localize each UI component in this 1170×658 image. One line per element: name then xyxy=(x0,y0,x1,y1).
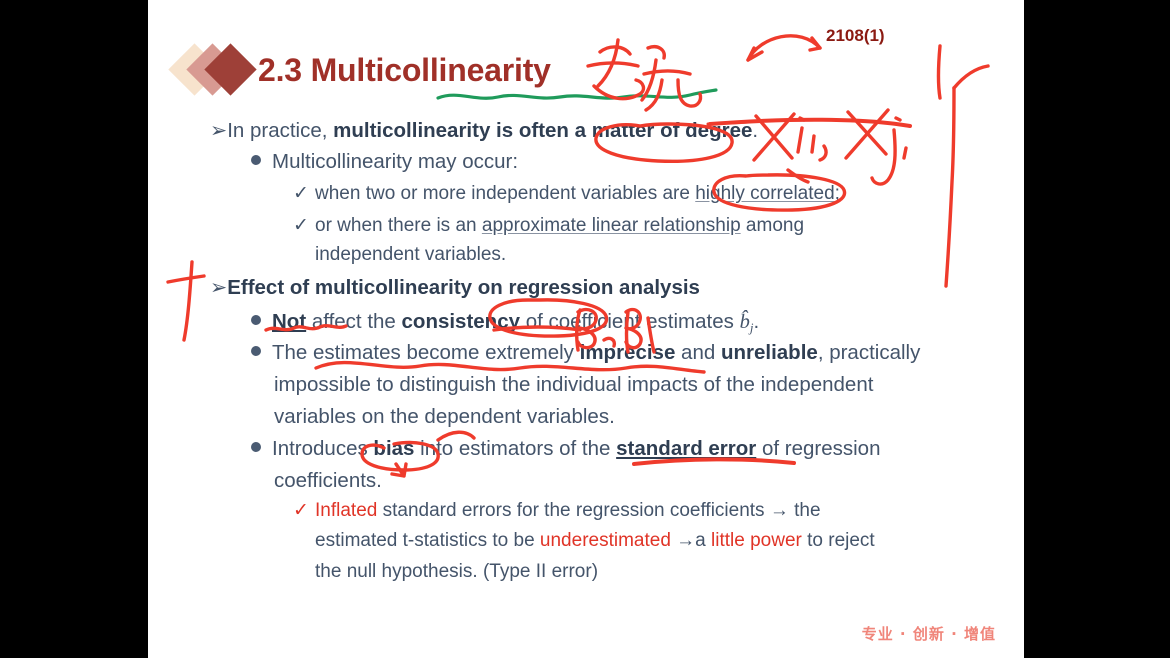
dot-bullet-icon-3 xyxy=(251,346,261,356)
not-post: of coefficient estimates xyxy=(520,310,740,333)
standard-error-keyword: standard error xyxy=(616,437,756,460)
slide-title-row: 2.3 Multicollinearity xyxy=(176,42,551,98)
not-keyword: Not xyxy=(272,310,306,333)
inflated-keyword: Inflated xyxy=(315,500,377,521)
inflated-line2-post: to reject xyxy=(802,530,875,551)
not-end: . xyxy=(753,310,759,333)
consistency-keyword: consistency xyxy=(402,310,521,333)
inflated-mid: standard errors for the regression coeff… xyxy=(377,500,820,521)
introduces-post: of regression xyxy=(756,437,880,460)
in-practice-pre: In practice, xyxy=(227,119,333,142)
dot-bullet-icon-2 xyxy=(251,315,261,325)
imprecise-keyword: imprecise xyxy=(580,341,676,364)
bias-keyword: bias xyxy=(373,437,414,460)
dot-bullet-icon-4 xyxy=(251,442,261,452)
bullet-introduces-bias: Introduces bias into estimators of the s… xyxy=(251,437,880,461)
diamond-decoration-icon xyxy=(176,42,254,98)
introduces-line2: coefficients. xyxy=(274,469,382,493)
screenshot-stage: 2.3 Multicollinearity ➢In practice, mult… xyxy=(0,0,1170,658)
estimates-pre: The estimates become extremely xyxy=(272,341,580,364)
introduces-pre: Introduces xyxy=(272,437,373,460)
check-bullet-icon-3: ✓ xyxy=(293,499,309,522)
slide-footer-slogan: 专业 · 创新 · 增值 xyxy=(862,623,996,644)
page-title: 2.3 Multicollinearity xyxy=(258,52,551,89)
check-bullet-icon-2: ✓ xyxy=(293,214,309,237)
arrow-bullet-icon-2: ➢ xyxy=(210,276,227,299)
estimates-post: , practically xyxy=(818,341,921,364)
highly-correlated-underlined: highly correlated xyxy=(695,183,834,204)
in-practice-post: . xyxy=(752,119,758,142)
approx-pre: or when there is an xyxy=(315,215,482,236)
inflated-line3: the null hypothesis. (Type II error) xyxy=(315,561,598,583)
not-mid: affect the xyxy=(306,310,401,333)
arrow-bullet-icon: ➢ xyxy=(210,119,227,142)
bullet-approx-linear: ✓or when there is an approximate linear … xyxy=(293,214,804,237)
check-bullet-icon: ✓ xyxy=(293,182,309,205)
estimates-line2: impossible to distinguish the individual… xyxy=(274,373,873,397)
may-occur-text: Multicollinearity may occur: xyxy=(272,150,518,173)
introduces-mid: into estimators of the xyxy=(414,437,616,460)
inflated-line2-mid: →a xyxy=(671,530,711,551)
approx-line2: independent variables. xyxy=(315,244,506,266)
estimates-mid: and xyxy=(675,341,721,364)
bullet-may-occur: Multicollinearity may occur: xyxy=(251,150,518,174)
in-practice-bold: multicollinearity is often a matter of d… xyxy=(333,119,752,142)
underestimated-keyword: underestimated xyxy=(540,530,671,551)
bullet-inflated: ✓Inflated standard errors for the regres… xyxy=(293,499,821,522)
effect-heading-text: Effect of multicollinearity on regressio… xyxy=(227,276,700,299)
bullet-estimates-imprecise: The estimates become extremely imprecise… xyxy=(251,341,920,365)
presentation-slide: 2.3 Multicollinearity ➢In practice, mult… xyxy=(148,0,1024,658)
page-reference-annotation: 2108(1) xyxy=(826,26,885,46)
b-hat-math: b̂ xyxy=(740,311,750,333)
bullet-not-affect: Not affect the consistency of coefficien… xyxy=(251,310,759,336)
dot-bullet-icon xyxy=(251,155,261,165)
two-or-more-pre: when two or more independent variables a… xyxy=(315,183,695,204)
approx-post: among xyxy=(741,215,804,236)
inflated-line2-pre: estimated t-statistics to be xyxy=(315,530,540,551)
unreliable-keyword: unreliable xyxy=(721,341,818,364)
bullet-in-practice: ➢In practice, multicollinearity is often… xyxy=(210,118,758,143)
estimates-line3: variables on the dependent variables. xyxy=(274,405,615,429)
two-or-more-post: ; xyxy=(835,183,840,204)
little-power-keyword: little power xyxy=(711,530,802,551)
approximate-linear-underlined: approximate linear relationship xyxy=(482,215,741,236)
bullet-two-or-more: ✓when two or more independent variables … xyxy=(293,182,840,205)
inflated-line2: estimated t-statistics to be underestima… xyxy=(315,530,875,552)
bullet-effect-heading: ➢Effect of multicollinearity on regressi… xyxy=(210,275,700,300)
